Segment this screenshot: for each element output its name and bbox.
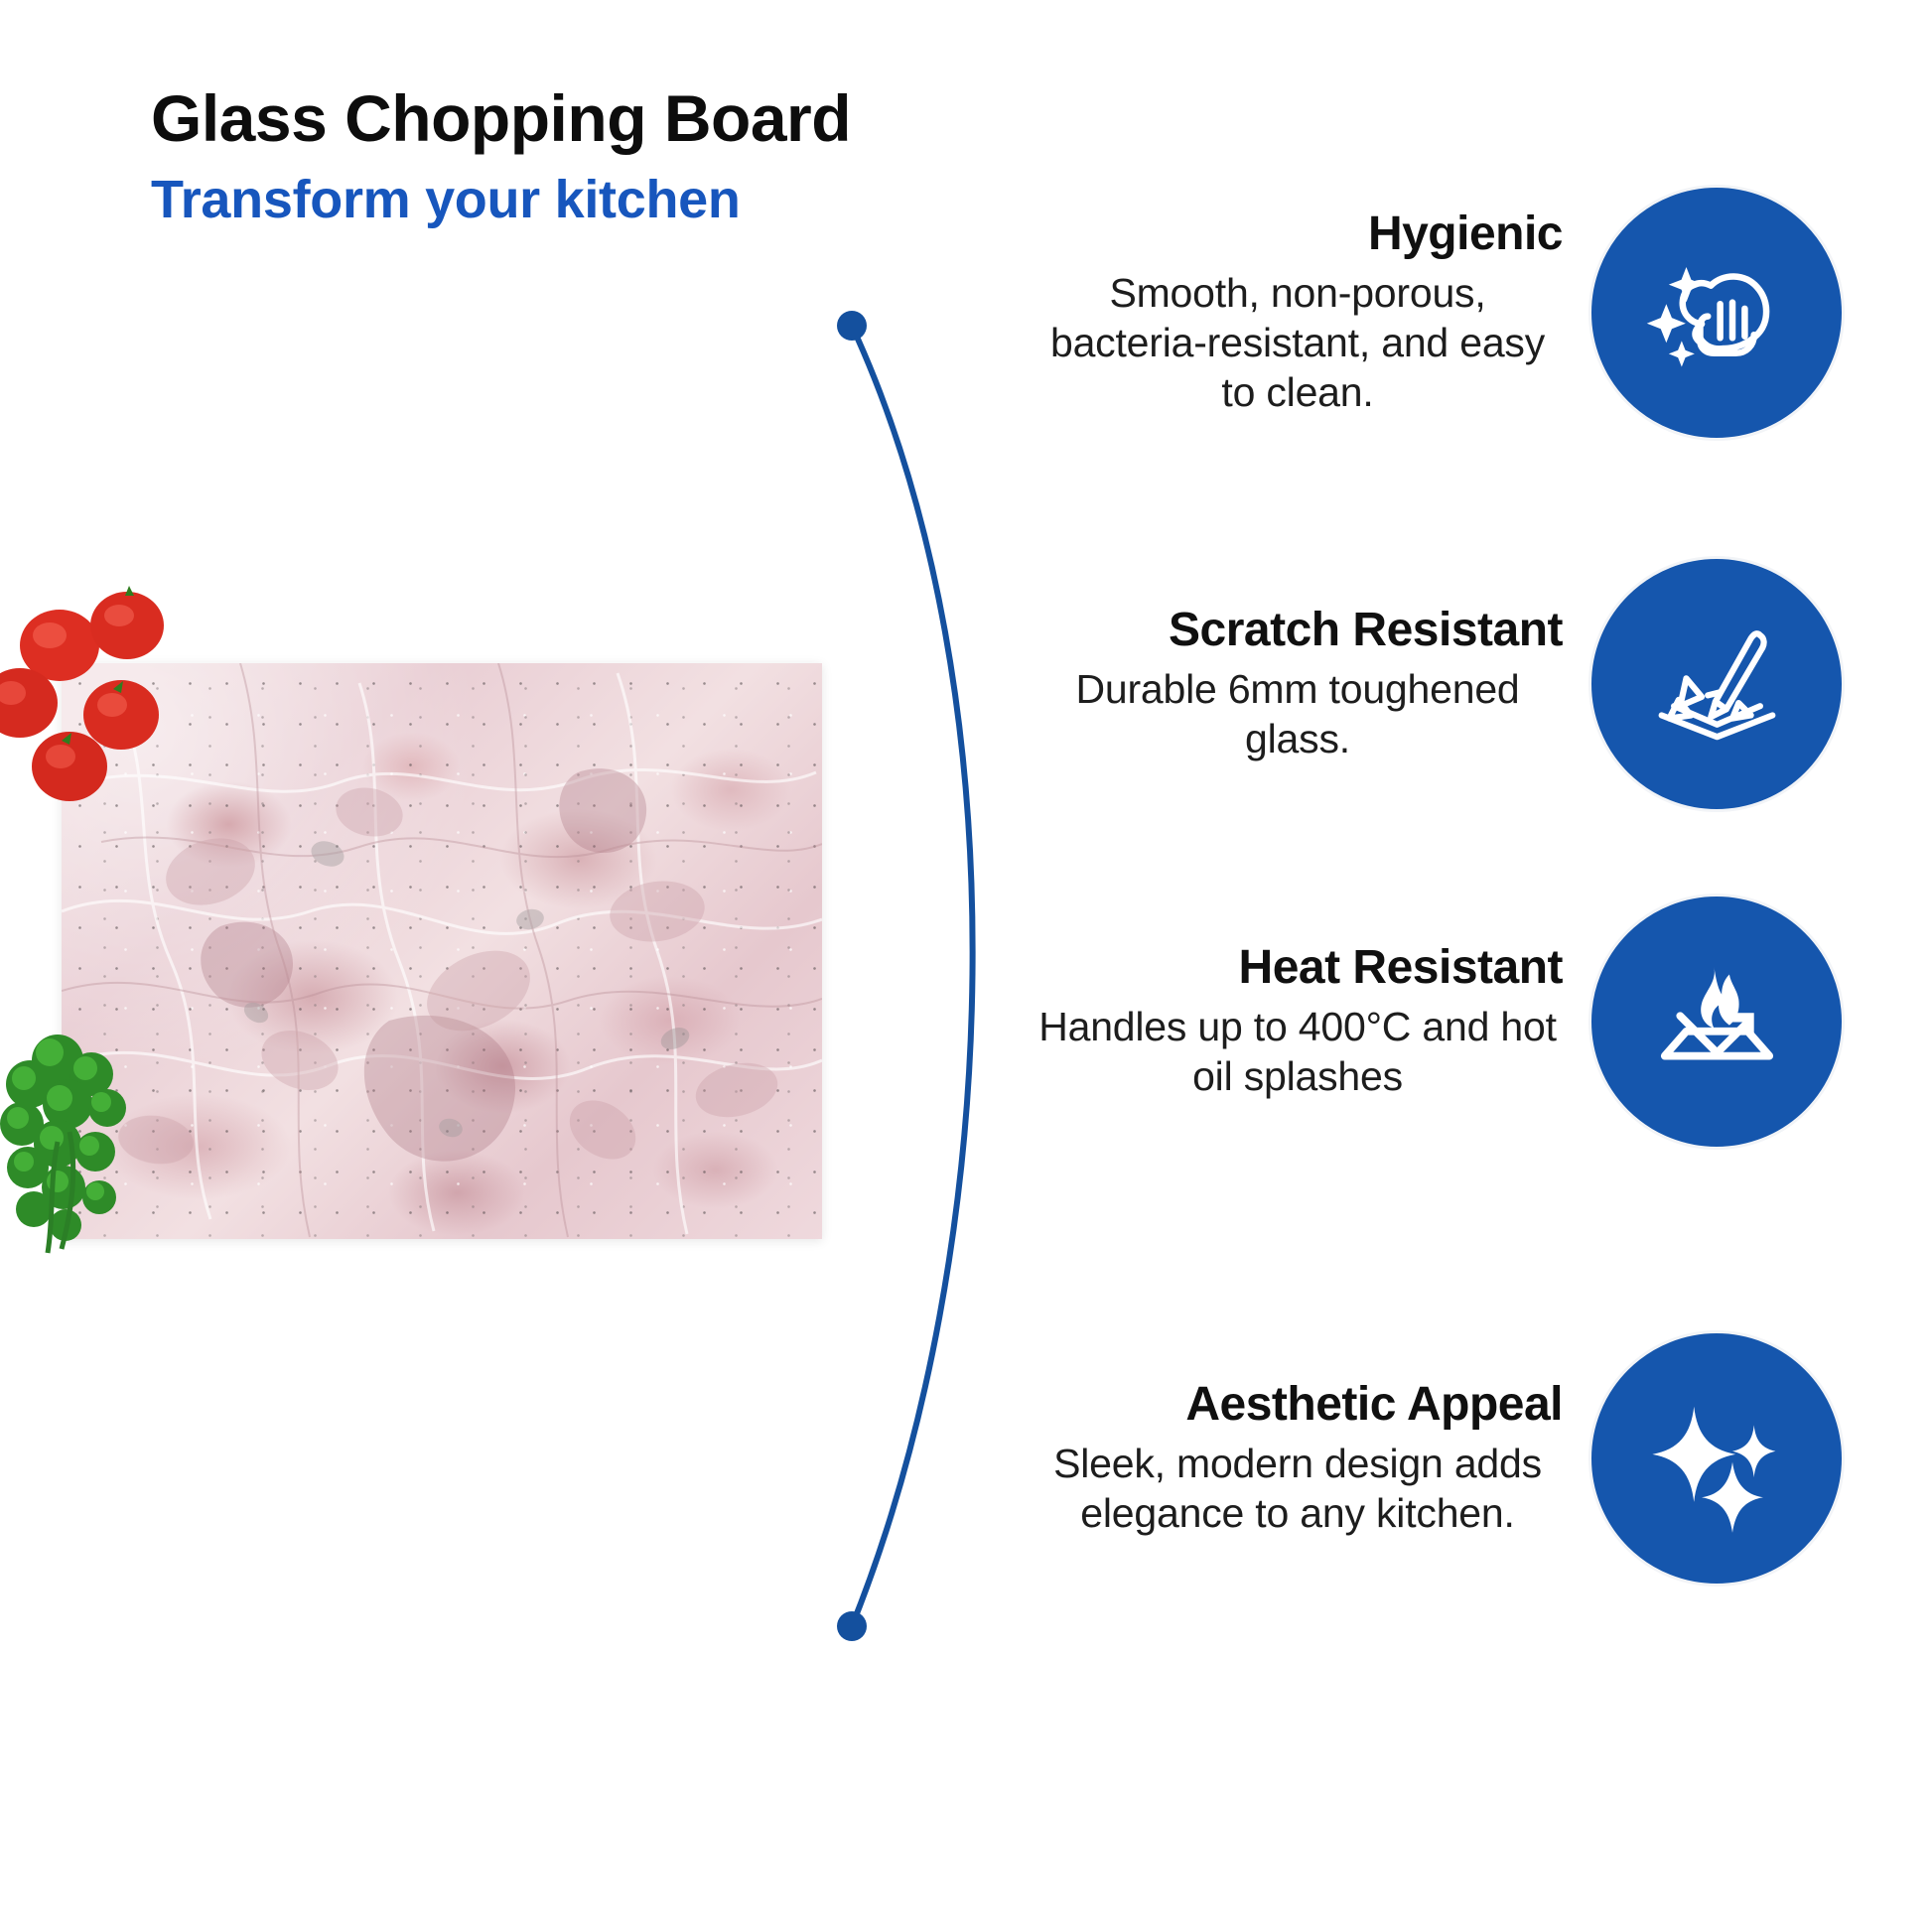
hand-wipe-sparkle-icon <box>1588 185 1845 441</box>
flame-deflect-surface-icon <box>1588 894 1845 1150</box>
product-image-area <box>0 596 864 1271</box>
page-title: Glass Chopping Board <box>151 85 851 151</box>
feature-heading: Scratch Resistant <box>1033 605 1563 656</box>
header: Glass Chopping Board Transform your kitc… <box>151 85 851 226</box>
infographic-canvas: Glass Chopping Board Transform your kitc… <box>0 0 1932 1932</box>
feature-heading: Heat Resistant <box>1033 942 1563 994</box>
feature-item-scratch-resistant[interactable]: Scratch Resistant Durable 6mm toughened … <box>1033 556 1932 812</box>
feature-text: Hygienic Smooth, non-porous, bacteria-re… <box>1033 208 1588 417</box>
feature-heading: Aesthetic Appeal <box>1033 1379 1563 1431</box>
feature-heading: Hygienic <box>1033 208 1563 260</box>
feature-list: Hygienic Smooth, non-porous, bacteria-re… <box>1033 0 1932 1932</box>
feature-body: Smooth, non-porous, bacteria-resistant, … <box>1033 268 1563 417</box>
feature-item-hygienic[interactable]: Hygienic Smooth, non-porous, bacteria-re… <box>1033 185 1932 441</box>
feature-body: Sleek, modern design adds elegance to an… <box>1033 1439 1563 1538</box>
knife-scratch-surface-icon <box>1588 556 1845 812</box>
feature-text: Aesthetic Appeal Sleek, modern design ad… <box>1033 1379 1588 1538</box>
feature-item-heat-resistant[interactable]: Heat Resistant Handles up to 400°C and h… <box>1033 894 1932 1150</box>
parsley-herb-image <box>0 1013 218 1261</box>
sparkles-icon <box>1588 1330 1845 1587</box>
feature-text: Scratch Resistant Durable 6mm toughened … <box>1033 605 1588 763</box>
feature-body: Durable 6mm toughened glass. <box>1033 664 1563 763</box>
feature-text: Heat Resistant Handles up to 400°C and h… <box>1033 942 1588 1101</box>
feature-body: Handles up to 400°C and hot oil splashes <box>1033 1002 1563 1101</box>
cherry-tomatoes-image <box>0 586 218 804</box>
feature-item-aesthetic-appeal[interactable]: Aesthetic Appeal Sleek, modern design ad… <box>1033 1330 1932 1587</box>
page-subtitle: Transform your kitchen <box>151 173 851 226</box>
